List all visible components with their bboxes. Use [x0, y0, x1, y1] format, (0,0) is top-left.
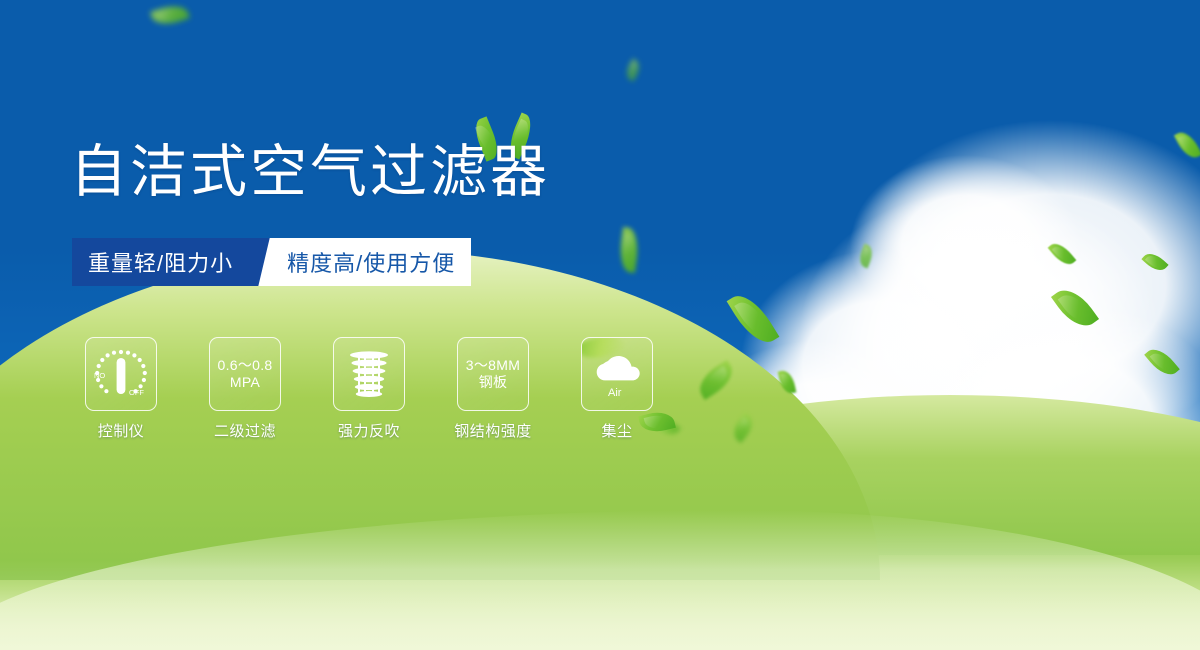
subtitle-slash-divider	[251, 238, 281, 286]
feature-label: 强力反吹	[338, 420, 400, 441]
feature-item-dust-collection[interactable]: Air 集尘	[581, 337, 653, 441]
steel-thickness: 3～8MM	[466, 357, 520, 375]
filter-cartridge-icon	[333, 337, 405, 411]
subtitle-right: 精度高/使用方便	[281, 238, 471, 286]
banner-content: 自洁式空气过滤器 重量轻/阻力小 精度高/使用方便	[0, 0, 1200, 650]
pressure-unit: MPA	[217, 374, 272, 392]
feature-item-controller[interactable]: NO OFF 控制仪	[85, 337, 157, 441]
pressure-text-icon: 0.6～0.8 MPA	[209, 337, 281, 411]
subtitle-bar: 重量轻/阻力小 精度高/使用方便	[72, 238, 471, 286]
feature-item-pulse-jet[interactable]: 强力反吹	[333, 337, 405, 441]
pressure-range: 0.6～0.8	[217, 357, 272, 375]
steel-plate-text-icon: 3～8MM 钢板	[457, 337, 529, 411]
feature-label: 集尘	[601, 420, 632, 441]
subtitle-left: 重量轻/阻力小	[72, 238, 251, 286]
air-cloud-icon: Air	[581, 337, 653, 411]
steel-material: 钢板	[466, 374, 520, 392]
svg-text:NO: NO	[94, 371, 105, 380]
feature-item-secondary-filter[interactable]: 0.6～0.8 MPA 二级过滤	[209, 337, 281, 441]
feature-label: 控制仪	[98, 420, 145, 441]
feature-label: 二级过滤	[214, 420, 276, 441]
feature-icon-list: NO OFF 控制仪 0.6～0.8 MPA 二级过滤	[85, 337, 653, 441]
svg-text:OFF: OFF	[129, 388, 144, 397]
pressure-text: 0.6～0.8 MPA	[217, 357, 272, 392]
page-title: 自洁式空气过滤器	[70, 144, 550, 201]
feature-label: 钢结构强度	[454, 420, 532, 441]
product-banner: 自洁式空气过滤器 重量轻/阻力小 精度高/使用方便	[0, 0, 1200, 650]
feature-item-steel-strength[interactable]: 3～8MM 钢板 钢结构强度	[457, 337, 529, 441]
svg-text:Air: Air	[608, 387, 622, 399]
gauge-dial-icon: NO OFF	[85, 337, 157, 411]
steel-plate-text: 3～8MM 钢板	[466, 357, 520, 392]
